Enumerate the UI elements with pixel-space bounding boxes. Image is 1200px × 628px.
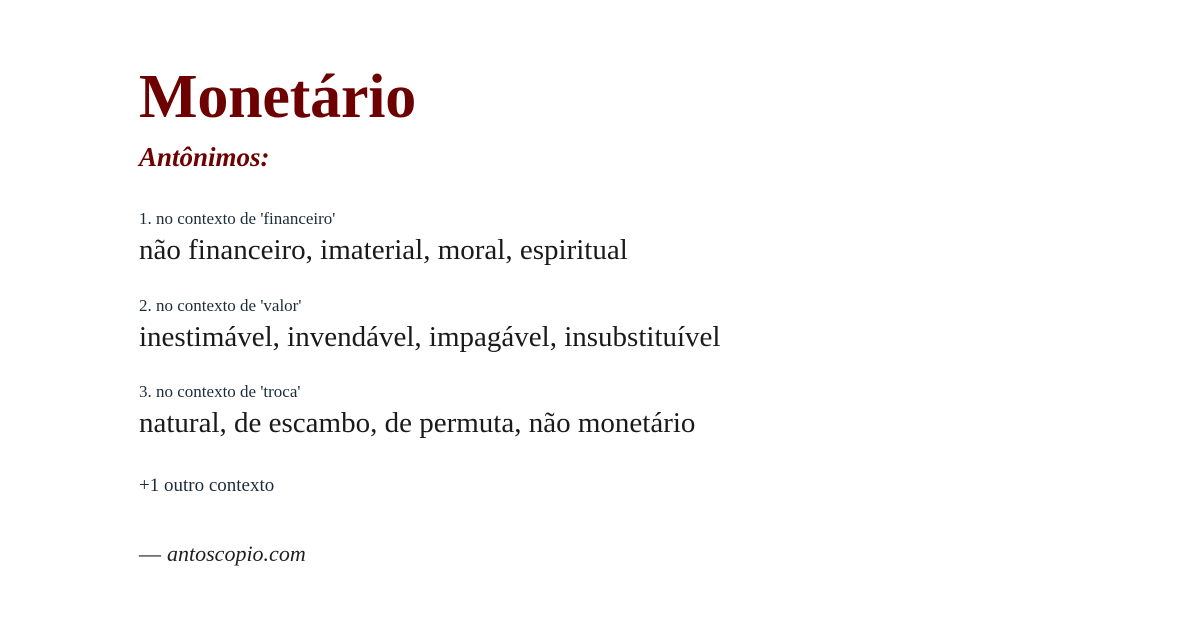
sense-antonyms: inestimável, invendável, impagável, insu… bbox=[139, 316, 1169, 356]
sense-entry: 3. no contexto de 'troca' natural, de es… bbox=[139, 382, 1169, 443]
page-title: Monetário bbox=[139, 0, 1169, 128]
sense-context-label: 3. no contexto de 'troca' bbox=[139, 382, 1169, 402]
card-content: Monetário Antônimos: 1. no contexto de '… bbox=[139, 0, 1169, 565]
em-dash: — bbox=[139, 541, 167, 566]
relation-type-label: Antônimos: bbox=[139, 128, 1169, 171]
sense-antonyms: não financeiro, imaterial, moral, espiri… bbox=[139, 229, 1169, 269]
sense-context-label: 1. no contexto de 'financeiro' bbox=[139, 209, 1169, 229]
sense-entry: 2. no contexto de 'valor' inestimável, i… bbox=[139, 296, 1169, 383]
sense-entry: 1. no contexto de 'financeiro' não finan… bbox=[139, 209, 1169, 296]
sense-context-label: 2. no contexto de 'valor' bbox=[139, 296, 1169, 316]
source-site: antoscopio.com bbox=[167, 541, 306, 566]
sense-list: 1. no contexto de 'financeiro' não finan… bbox=[139, 171, 1169, 443]
antonyms-card: Monetário Antônimos: 1. no contexto de '… bbox=[0, 0, 1200, 628]
sense-antonyms: natural, de escambo, de permuta, não mon… bbox=[139, 402, 1169, 442]
more-contexts-link[interactable]: +1 outro contexto bbox=[139, 443, 1169, 495]
attribution: —antoscopio.com bbox=[139, 495, 1169, 565]
